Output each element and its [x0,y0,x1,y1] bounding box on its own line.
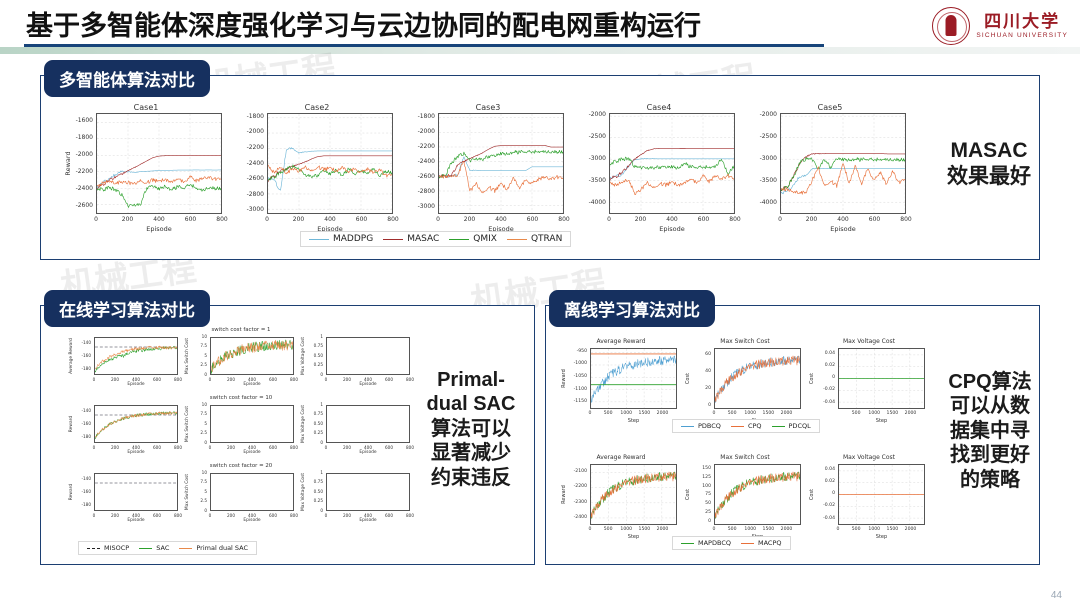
note-line: 显著减少 [412,441,530,465]
plot-axes [438,113,564,214]
x-tick-label: 400 [316,216,344,223]
plot-axes [326,473,410,511]
x-tick-label: 200 [798,216,826,223]
x-tick-label: 2000 [773,411,801,416]
x-axis-label: Episode [609,225,735,233]
x-tick-label: 2000 [649,527,677,532]
legend-swatch-misocp [87,548,100,549]
plot-online-r1c2: switch cost factor = 102.557.51002004006… [184,328,298,392]
y-tick-label: -2000 [404,128,435,135]
x-tick-label: 0 [766,216,794,223]
y-tick-label: -2400 [404,158,435,165]
plot-axes [210,473,294,511]
x-tick-label: 400 [145,216,173,223]
y-tick-label: -4000 [575,199,606,206]
x-tick-label: 600 [861,216,889,223]
legend-label-qtran: QTRAN [531,234,562,244]
x-tick-label: 200 [114,216,142,223]
legend-item-qmix: QMIX [449,234,497,244]
plot-axes [590,464,677,525]
note-line: 算法可以 [412,417,530,441]
plot-axes [326,405,410,443]
note-line: 可以从数 [935,394,1045,418]
y-axis-label: Reward [69,473,74,511]
note-line: 的策略 [935,468,1045,492]
x-tick-label: 0 [595,216,623,223]
plot-axes [96,113,222,214]
legend-swatch-macpq [741,543,754,544]
legend-swatch-mapdbcq [681,543,694,544]
y-axis-label: Cost [685,348,691,409]
multi-agent-section-tag: 多智能体算法对比 [44,60,210,97]
x-axis-label: Step [590,418,677,424]
plot-online-r2c1: -180-160-1400200400600800EpisodeReward [68,396,182,460]
x-tick-label: 200 [285,216,313,223]
x-axis-label: Episode [210,518,294,523]
plot-title: Max Voltage Cost [808,338,930,345]
online-section-tag: 在线学习算法对比 [44,290,210,327]
y-tick-label: -2500 [575,133,606,140]
plot-case3: Case3-3000-2800-2600-2400-2200-2000-1800… [404,100,572,240]
x-tick-label: 200 [456,216,484,223]
x-tick-label: 2000 [773,527,801,532]
y-axis-label: Cost [685,464,691,525]
plot-axes [780,113,906,214]
plot-case5: Case5-4000-3500-3000-2500-20000200400600… [746,100,914,240]
x-axis-label: Episode [94,450,178,455]
plot-case4: Case4-4000-3500-3000-2500-20000200400600… [575,100,743,240]
legend-label-misocp: MISOCP [104,544,129,552]
offline-conclusion-note: CPQ算法 可以从数 据集中寻 找到更好 的策略 [935,370,1045,492]
offline-legend-row1: PDBCQ CPQ PDCQL [672,419,820,433]
legend-label-pdbcq: PDBCQ [698,422,721,430]
y-axis-label: Reward [561,464,567,525]
y-axis-label: Reward [561,348,567,409]
x-axis-label: Step [838,534,925,540]
y-axis-label: Max Voltage Cost [301,473,306,511]
legend-item-misocp: MISOCP [87,544,129,552]
y-tick-label: -3000 [746,155,777,162]
note-line: CPQ算法 [935,370,1045,394]
offline-section-tag: 离线学习算法对比 [549,290,715,327]
x-axis-label: Episode [94,382,178,387]
y-axis-label: Cost [809,464,815,525]
y-tick-label: -4000 [746,199,777,206]
x-tick-label: 800 [892,216,920,223]
x-tick-label: 800 [550,216,578,223]
x-axis-label: Episode [210,382,294,387]
plot-axes [94,405,178,443]
plot-title: switch cost factor = 10 [184,395,298,401]
y-tick-label: -2500 [746,133,777,140]
sichuan-university-seal-icon [932,7,970,45]
offline-legend-row2: MAPDBCQ MACPQ [672,536,791,550]
legend-label-macpq: MACPQ [758,539,782,547]
y-tick-label: -2800 [404,188,435,195]
x-axis-label: Episode [210,450,294,455]
plot-online-r1c1: -180-160-1400200400600800EpisodeAverage … [68,328,182,392]
plot-offline-r1c2: Max Switch Cost02040600500100015002000St… [684,336,806,432]
plot-online-r2c2: switch cost factor = 1002.557.5100200400… [184,396,298,460]
x-tick-label: 600 [519,216,547,223]
y-axis-label: Max Switch Cost [185,473,190,511]
x-tick-label: 0 [424,216,452,223]
legend-swatch-qmix [449,239,469,240]
x-axis-label: Episode [326,382,410,387]
x-tick-label: 2000 [897,411,925,416]
y-axis-label: Reward [64,113,72,214]
university-logo: 四川大学 SICHUAN UNIVERSITY [932,6,1068,46]
x-axis-label: Episode [96,225,222,233]
y-tick-label: -3500 [746,177,777,184]
plot-axes [267,113,393,214]
plot-title: Average Reward [560,338,682,345]
plot-axes [714,348,801,409]
plot-online-r3c1: -180-160-1400200400600800EpisodeReward [68,464,182,528]
x-tick-label: 2000 [649,411,677,416]
y-tick-label: -1800 [233,113,264,120]
y-tick-label: -1800 [404,113,435,120]
legend-swatch-qtran [507,239,527,240]
plot-title: Max Switch Cost [684,338,806,345]
multi-agent-conclusion-note: MASAC 效果最好 [930,138,1048,189]
plot-title: Case2 [233,103,401,112]
plot-axes [838,348,925,409]
plot-axes [210,337,294,375]
x-tick-label: 800 [208,216,236,223]
logo-name-cn: 四川大学 [984,13,1060,32]
plot-title: Case3 [404,103,572,112]
x-tick-label: 0 [253,216,281,223]
note-line: 找到更好 [935,443,1045,467]
legend-item-masac: MASAC [383,234,439,244]
x-axis-label: Step [838,418,925,424]
online-conclusion-note: Primal- dual SAC 算法可以 显著减少 约束违反 [412,368,530,490]
legend-swatch-pdcql [772,426,785,427]
x-tick-label: 2000 [897,527,925,532]
note-line: 据集中寻 [935,419,1045,443]
plot-online-r1c3: 00.250.500.7510200400600800EpisodeMax Vo… [300,328,414,392]
plot-title: switch cost factor = 1 [184,327,298,333]
legend-item-primal-dual-sac: Primal dual SAC [179,544,248,552]
plot-title: Case1 [62,103,230,112]
plot-online-r3c3: 00.250.500.7510200400600800EpisodeMax Vo… [300,464,414,528]
y-tick-label: -2200 [404,143,435,150]
plot-online-r3c2: switch cost factor = 2002.557.5100200400… [184,464,298,528]
plot-axes [326,337,410,375]
x-tick-label: 400 [658,216,686,223]
y-axis-label: Max Voltage Cost [301,405,306,443]
legend-label-maddpg: MADDPG [333,234,373,244]
legend-swatch-masac [383,239,403,240]
legend-swatch-maddpg [309,239,329,240]
online-legend: MISOCP SAC Primal dual SAC [78,541,257,555]
x-axis-label: Episode [326,450,410,455]
plot-axes [609,113,735,214]
y-tick-label: -3000 [404,203,435,210]
legend-item-pdbcq: PDBCQ [681,422,721,430]
x-tick-label: 400 [829,216,857,223]
x-axis-label: Episode [780,225,906,233]
legend-item-mapdbcq: MAPDBCQ [681,539,731,547]
page-title: 基于多智能体深度强化学习与云边协同的配电网重构运行 [26,4,701,43]
note-line: 效果最好 [930,164,1048,190]
x-axis-label: Episode [94,518,178,523]
plot-title: Max Switch Cost [684,454,806,461]
y-tick-label: -2000 [746,111,777,118]
note-line: dual SAC [412,392,530,416]
y-tick-label: -3000 [233,206,264,213]
x-tick-label: 600 [348,216,376,223]
page-number: 44 [1051,590,1062,601]
plot-axes [714,464,801,525]
note-line: Primal- [412,368,530,392]
legend-swatch-sac [139,548,152,549]
y-axis-label: Max Switch Cost [185,337,190,375]
y-tick-label: -2400 [233,160,264,167]
x-tick-label: 400 [487,216,515,223]
x-tick-label: 800 [721,216,749,223]
legend-swatch-cpq [731,426,744,427]
plot-case2: Case2-3000-2800-2600-2400-2200-2000-1800… [233,100,401,240]
legend-item-sac: SAC [139,544,169,552]
legend-item-macpq: MACPQ [741,539,782,547]
y-axis-label: Max Switch Cost [185,405,190,443]
legend-label-qmix: QMIX [473,234,497,244]
legend-item-cpq: CPQ [731,422,762,430]
y-axis-label: Average Reward [69,337,74,375]
legend-item-qtran: QTRAN [507,234,562,244]
multi-agent-legend: MADDPG MASAC QMIX QTRAN [300,231,571,247]
y-axis-label: Reward [69,405,74,443]
x-axis-label: Step [590,534,677,540]
y-tick-label: -2000 [575,111,606,118]
x-tick-label: 200 [627,216,655,223]
legend-item-pdcql: PDCQL [772,422,811,430]
x-tick-label: 600 [690,216,718,223]
legend-label-masac: MASAC [407,234,439,244]
plot-axes [94,337,178,375]
plot-offline-r1c1: Average Reward-1150-1100-1050-1000-95005… [560,336,682,432]
plot-title: Max Voltage Cost [808,454,930,461]
y-tick-label: -2000 [233,128,264,135]
legend-swatch-pdbcq [681,426,694,427]
page-header: 基于多智能体深度强化学习与云边协同的配电网重构运行 四川大学 SICHUAN U… [0,0,1080,50]
x-tick-label: 800 [379,216,407,223]
legend-label-cpq: CPQ [748,422,762,430]
note-line: MASAC [930,138,1048,164]
legend-label-mapdbcq: MAPDBCQ [698,539,731,547]
x-tick-label: 600 [177,216,205,223]
y-tick-label: -2600 [233,175,264,182]
y-tick-label: -2800 [233,191,264,198]
plot-title: switch cost factor = 20 [184,463,298,469]
legend-label-pdcql: PDCQL [789,422,811,430]
legend-item-maddpg: MADDPG [309,234,373,244]
plot-axes [210,405,294,443]
plot-axes [94,473,178,511]
plot-offline-r1c3: Max Voltage Cost-0.04-0.0200.020.0450010… [808,336,930,432]
plot-axes [590,348,677,409]
plot-offline-r2c2: Max Switch Cost0255075100125150050010001… [684,452,806,548]
plot-axes [838,464,925,525]
plot-offline-r2c1: Average Reward-2400-2300-2200-2100050010… [560,452,682,548]
plot-offline-r2c3: Max Voltage Cost-0.04-0.0200.020.0405001… [808,452,930,548]
plot-case1: Case1-2600-2400-2200-2000-1800-160002004… [62,100,230,240]
y-tick-label: -2200 [233,144,264,151]
y-tick-label: -2600 [404,173,435,180]
plot-online-r2c3: 00.250.500.7510200400600800EpisodeMax Vo… [300,396,414,460]
note-line: 约束违反 [412,466,530,490]
x-tick-label: 0 [82,216,110,223]
legend-swatch-primal-dual-sac [179,548,192,549]
legend-label-primal-dual-sac: Primal dual SAC [196,544,248,552]
y-axis-label: Cost [809,348,815,409]
y-tick-label: -3000 [575,155,606,162]
header-accent-band [0,47,1080,54]
x-axis-label: Episode [326,518,410,523]
y-tick-label: -3500 [575,177,606,184]
logo-name-en: SICHUAN UNIVERSITY [976,32,1068,39]
y-axis-label: Max Voltage Cost [301,337,306,375]
legend-label-sac: SAC [156,544,169,552]
plot-title: Average Reward [560,454,682,461]
